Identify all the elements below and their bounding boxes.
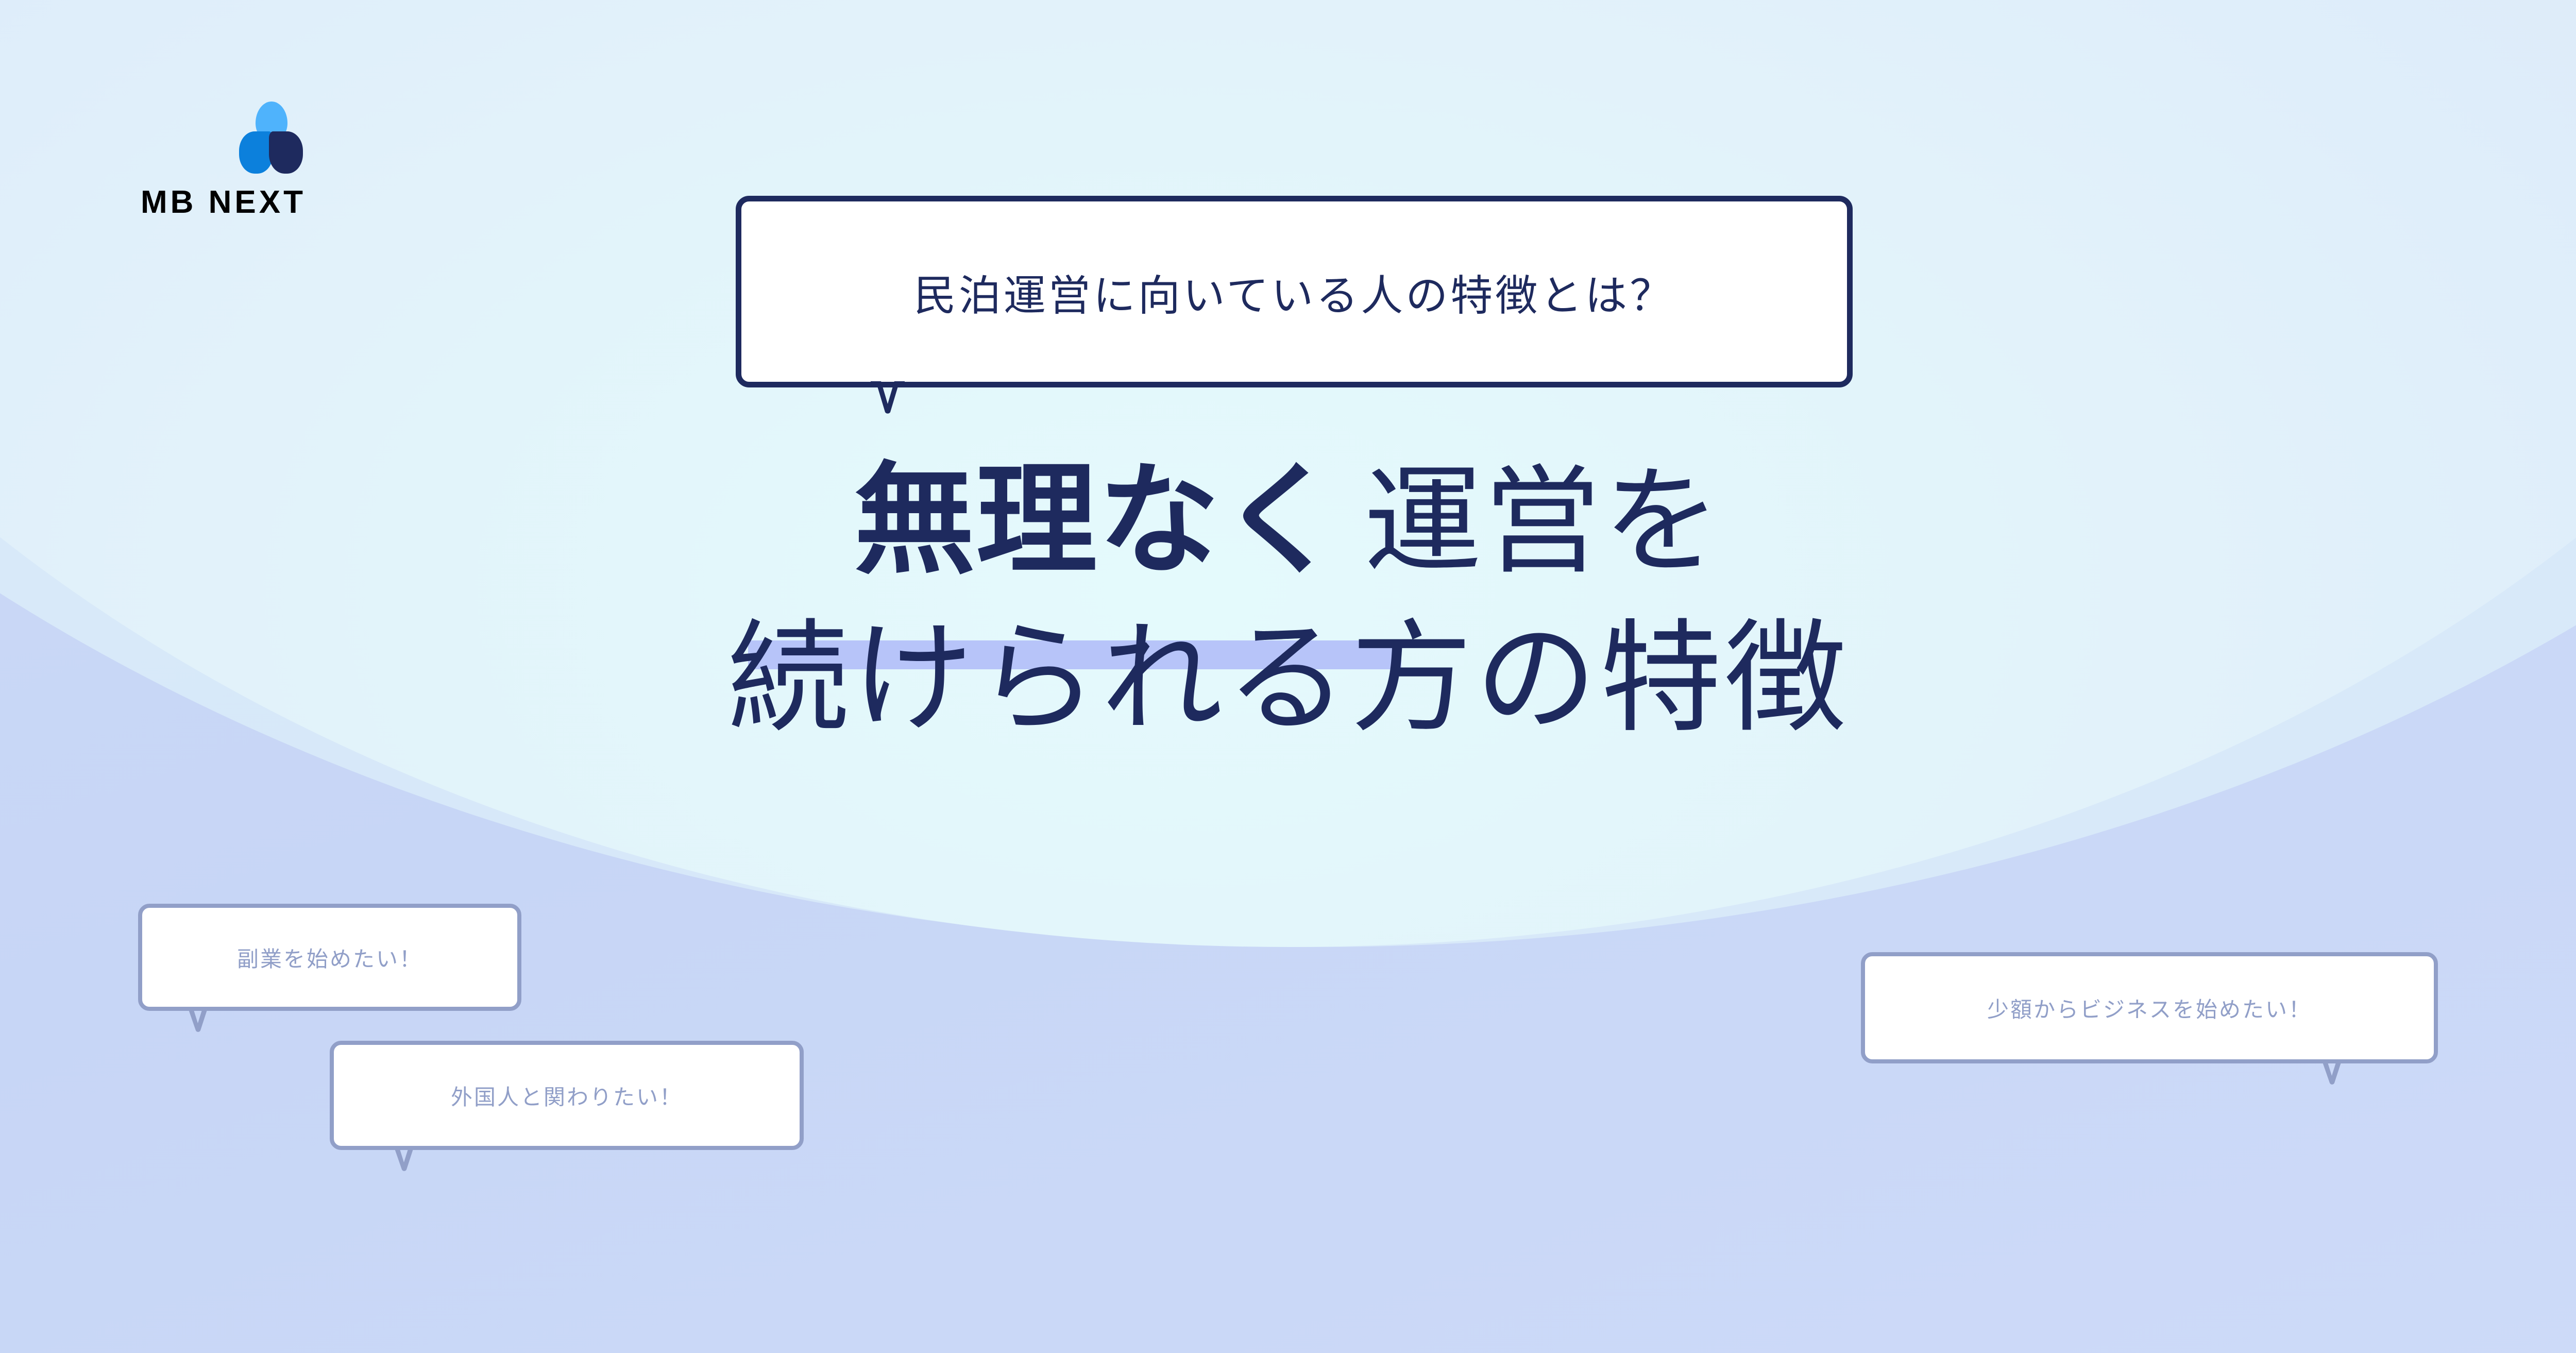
voice-bubble-sidejob-tail-icon [184, 1007, 211, 1035]
hero-banner: MB NEXT 民泊運営に向いている人の特徴とは？ 無理なく運営を 続けられる方… [0, 0, 2576, 1353]
three-blob-logo-icon [232, 102, 309, 179]
voice-bubble-foreign-text: 外国人と関わりたい！ [451, 1080, 683, 1111]
headline-block: 無理なく運営を 続けられる方の特徴 [0, 443, 2576, 763]
question-bubble-text: 民泊運営に向いている人の特徴とは？ [914, 261, 1675, 323]
headline-emphasis: 無理なく [854, 452, 1343, 588]
headline-line2-text: 続けられる方の特徴 [727, 613, 1849, 747]
voice-bubble-sidejob-text: 副業を始めたい！ [237, 942, 422, 973]
brand-logo[interactable]: MB NEXT [131, 95, 420, 224]
headline-line-1: 無理なく運営を [0, 443, 2576, 598]
voice-bubble-foreign: 外国人と関わりたい！ [330, 1041, 804, 1150]
logo-blob-left-icon [239, 131, 273, 174]
logo-wordmark: MB NEXT [141, 184, 306, 221]
logo-blob-right-icon [269, 131, 303, 174]
question-speech-bubble: 民泊運営に向いている人の特徴とは？ [736, 196, 1853, 387]
voice-bubble-small-biz-text: 少額からビジネスを始めたい！ [1987, 992, 2312, 1024]
headline-line1-rest: 運営を [1364, 458, 1723, 588]
voice-bubble-foreign-tail-icon [391, 1146, 417, 1174]
voice-bubble-sidejob: 副業を始めたい！ [138, 904, 521, 1011]
headline-line-2: 続けられる方の特徴 [0, 598, 2576, 763]
question-bubble-tail-icon [871, 381, 905, 417]
voice-bubble-small-biz: 少額からビジネスを始めたい！ [1861, 952, 2438, 1063]
voice-bubble-small-biz-tail-icon [2318, 1059, 2345, 1087]
